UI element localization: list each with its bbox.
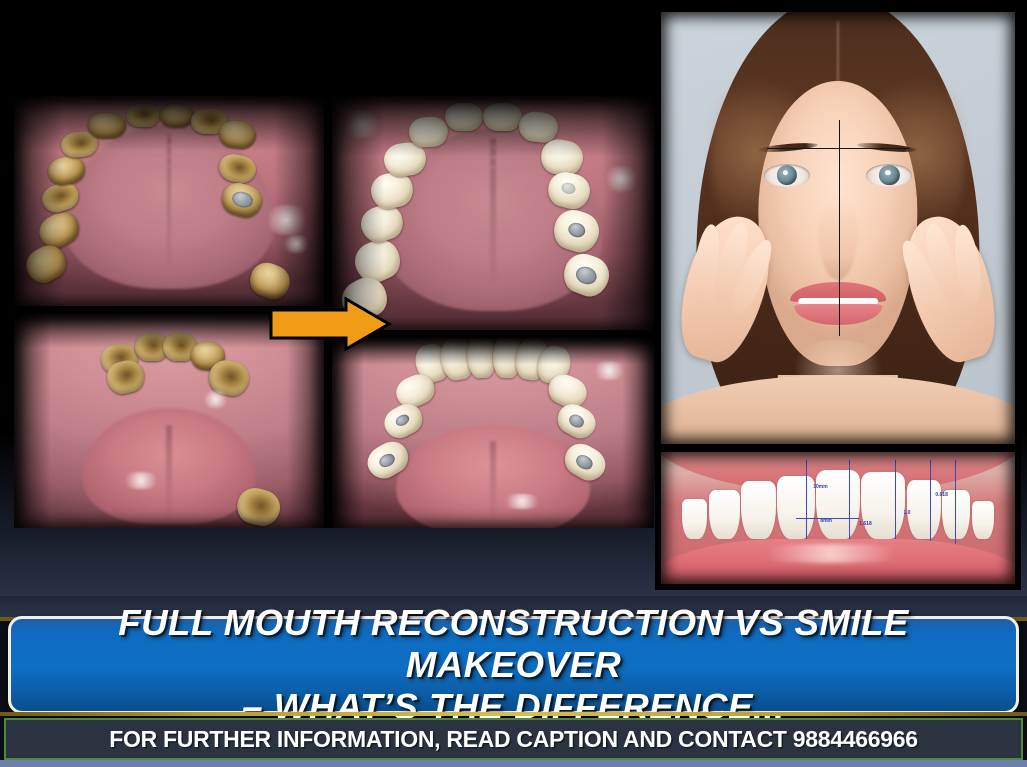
measure-label-height: 10mm xyxy=(813,484,827,490)
eye-right xyxy=(866,164,912,186)
case-panel-before-upper xyxy=(14,96,324,306)
headline-text: FULL MOUTH RECONSTRUCTION VS SMILE MAKEO… xyxy=(1,602,1026,728)
case-panel-after-upper xyxy=(332,96,654,330)
facial-midline-guide xyxy=(839,120,840,336)
eye-left xyxy=(764,164,810,186)
intraoral-photo-after-lower xyxy=(332,338,654,528)
smile-design-column: 10mm 8mm 1.618 1.0 0.618 xyxy=(655,6,1021,590)
smile-closeup-photo: 10mm 8mm 1.618 1.0 0.618 xyxy=(661,452,1015,584)
interpupillary-line-guide xyxy=(767,148,909,149)
bottom-accent-strip xyxy=(0,760,1027,767)
gold-rule-bottom xyxy=(0,712,1027,716)
contact-bar: FOR FURTHER INFORMATION, READ CAPTION AN… xyxy=(4,718,1023,760)
measure-label-ratio-central: 1.618 xyxy=(859,521,872,527)
portrait-photo xyxy=(661,12,1015,444)
transition-arrow xyxy=(268,296,392,352)
photo-stage: 10mm 8mm 1.618 1.0 0.618 xyxy=(0,0,1027,600)
measure-label-ratio-lateral: 1.0 xyxy=(903,510,910,516)
smile-teeth-row xyxy=(682,470,994,539)
dental-arch-after-lower xyxy=(332,338,654,528)
poster-root: 10mm 8mm 1.618 1.0 0.618 FULL MOUTH RECO… xyxy=(0,0,1027,767)
intraoral-photo-after-upper xyxy=(332,96,654,330)
headline-banner: FULL MOUTH RECONSTRUCTION VS SMILE MAKEO… xyxy=(8,616,1019,714)
case-panel-after-lower xyxy=(332,338,654,528)
arrow-right-icon xyxy=(268,296,392,352)
headline-line-1: FULL MOUTH RECONSTRUCTION VS SMILE MAKEO… xyxy=(118,602,908,685)
contact-text: FOR FURTHER INFORMATION, READ CAPTION AN… xyxy=(109,726,917,753)
measure-label-width: 8mm xyxy=(820,518,832,524)
intraoral-photo-before-upper xyxy=(14,96,324,306)
measure-label-ratio-canine: 0.618 xyxy=(935,492,948,498)
